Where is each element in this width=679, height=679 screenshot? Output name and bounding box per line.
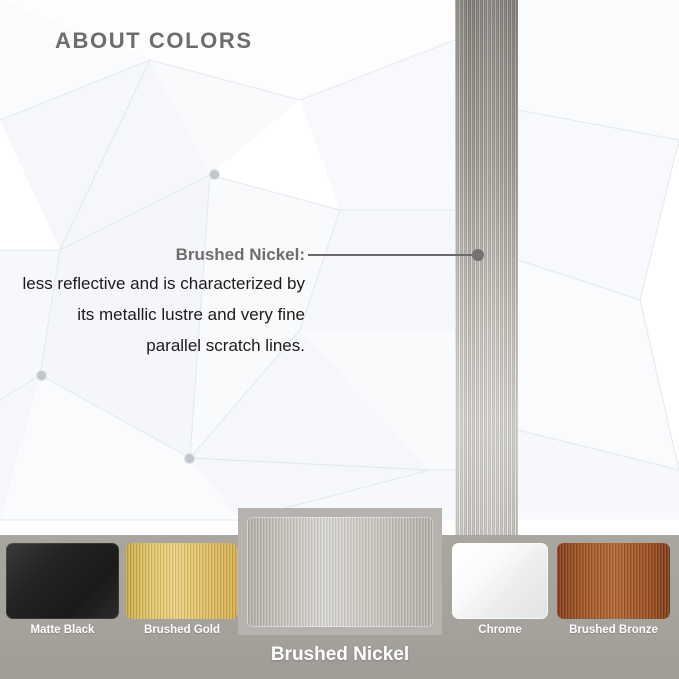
about-colors-infographic: ABOUT COLORS Brushed Nickel: less reflec… <box>0 0 679 679</box>
callout-text-block: Brushed Nickel: less reflective and is c… <box>0 242 305 361</box>
callout-leader-line <box>308 254 474 256</box>
node-dot-2 <box>36 370 47 381</box>
callout-line-1: less reflective and is characterized by <box>0 268 305 299</box>
swatch-chrome[interactable] <box>452 543 548 619</box>
callout-leader-dot <box>472 249 484 261</box>
swatch-matte-black[interactable] <box>6 543 119 619</box>
swatch-label-brushed-gold: Brushed Gold <box>126 624 238 636</box>
callout-line-2: its metallic lustre and very fine <box>0 299 305 330</box>
callout-line-3: parallel scratch lines. <box>0 330 305 361</box>
node-dot-3 <box>184 453 195 464</box>
brushed-nickel-strip <box>455 0 518 536</box>
callout-heading: Brushed Nickel: <box>0 242 305 268</box>
swatch-label-brushed-nickel: Brushed Nickel <box>247 644 433 666</box>
swatch-brushed-nickel[interactable] <box>247 517 433 627</box>
node-dot-1 <box>209 169 220 180</box>
swatch-label-chrome: Chrome <box>452 624 548 636</box>
page-title: ABOUT COLORS <box>55 28 253 54</box>
swatch-brushed-bronze[interactable] <box>557 543 670 619</box>
swatch-label-brushed-bronze: Brushed Bronze <box>557 624 670 636</box>
swatch-brushed-gold[interactable] <box>126 543 238 619</box>
swatch-label-matte-black: Matte Black <box>6 624 119 636</box>
